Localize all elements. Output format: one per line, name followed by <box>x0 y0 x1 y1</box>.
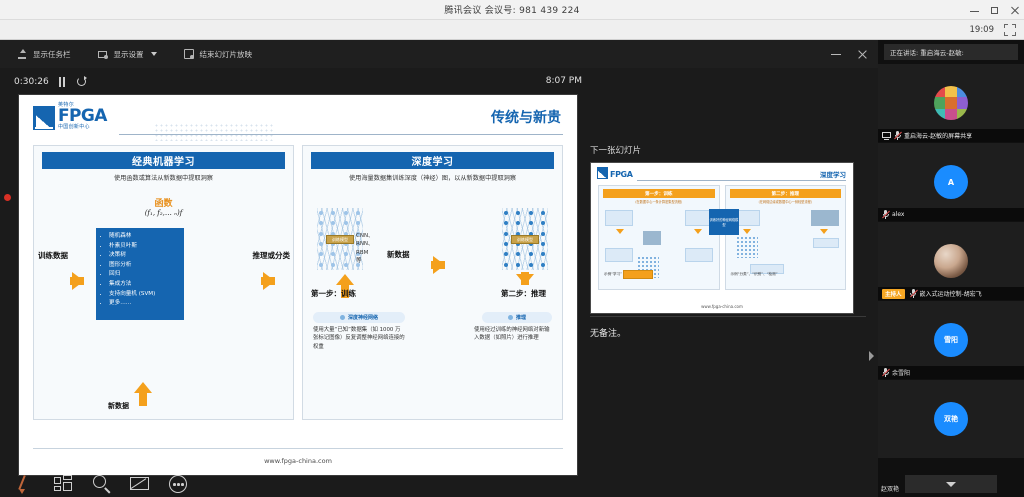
model-chip-label: 训练模型 <box>326 235 354 244</box>
next-slide-thumbnail[interactable]: FPGA 深度学习 第一步：训练 （在数据中心一条计算密集型流程） <box>590 162 854 314</box>
participant-name-bar: 余雪阳 <box>878 366 1024 379</box>
list-item: 支持向量机 (SVM) <box>109 290 182 300</box>
thumb-step2-heading: 第二步：推理 <box>730 189 842 198</box>
thumb-card <box>605 248 633 262</box>
participant-name: 重启海云-赵敏的屏幕共享 <box>904 131 972 140</box>
function-word: 函数 <box>34 196 293 209</box>
display-settings-icon <box>97 48 109 60</box>
list-item: 朴素贝叶斯 <box>109 242 182 252</box>
list-item: 决策树 <box>109 251 182 261</box>
neural-net-infer-graphic: 训练模型 <box>502 208 548 270</box>
more-options-icon[interactable] <box>166 472 190 496</box>
end-show-icon <box>183 48 195 60</box>
fpga-logo: 英特尔 FPGA 中国创新中心 <box>33 103 107 130</box>
all-slides-icon[interactable] <box>52 472 76 496</box>
arrow-down-icon <box>820 229 828 234</box>
thumb-panels: 第一步：训练 （在数据中心一条计算密集型流程） 示例“学习” <box>598 185 846 290</box>
zoom-icon[interactable] <box>90 472 114 496</box>
chevron-down-icon <box>151 52 157 56</box>
function-formula: (f₁, f₂,… ₙ)f <box>34 209 293 217</box>
arrow-down-icon <box>694 229 702 234</box>
thumb-image <box>643 231 661 245</box>
train-description: 使用大量“已知”数据集（如 1000 万张标记图像）反复调整神经网络连接的权重 <box>313 326 405 351</box>
slide-url: www.fpga-china.com <box>19 457 577 465</box>
pause-icon[interactable] <box>58 77 67 87</box>
step-one-label: 第一步：训练 <box>311 288 356 299</box>
recording-indicator <box>4 194 11 201</box>
tencent-meeting-window: 腾讯会议 会议号: 981 439 224 19:09 显示任务栏 显示设置 <box>0 0 1024 497</box>
classic-ml-subtitle: 使用函数或算法从新数据中提取洞察 <box>44 174 283 183</box>
thumb-image <box>811 210 839 226</box>
avatar: 双艳 <box>934 402 968 436</box>
inference-pill: 推理 <box>482 312 552 323</box>
footer-divider <box>33 448 563 449</box>
participant-tile[interactable]: 雪阳 余雪阳 <box>878 301 1024 379</box>
participant-tile[interactable]: 重启海云-赵敏的屏幕共享 <box>878 64 1024 142</box>
participant-name-bar: 主持人 嵌入式运动控制-胡宏飞 <box>878 287 1024 300</box>
avatar: 雪阳 <box>934 323 968 357</box>
slide-title: 传统与新贵 <box>491 107 561 127</box>
show-more-participants-icon[interactable] <box>905 475 997 493</box>
thumb-step1-sub: （在数据中心一条计算密集型流程） <box>602 199 716 204</box>
display-settings-label: 显示设置 <box>114 49 144 60</box>
inference-label: 推理或分类 <box>253 250 291 261</box>
maximize-button[interactable] <box>989 5 1000 16</box>
next-slide-panel: 下一张幻灯片 FPGA 深度学习 第一步：训练 （在数据中心一条计算密集型流程） <box>590 144 866 314</box>
decorative-dots <box>154 123 274 141</box>
collapse-panel-icon[interactable] <box>866 348 876 364</box>
arrow-up-icon <box>336 274 354 285</box>
elapsed-timer: 0:30:26 <box>14 77 49 87</box>
taskbar-clock: 19:09 <box>970 25 995 35</box>
logo-mark-icon <box>597 167 608 179</box>
participant-tile[interactable]: A alex <box>878 143 1024 221</box>
participant-tile[interactable]: 主持人 嵌入式运动控制-胡宏飞 <box>878 222 1024 300</box>
classic-ml-heading-text: 经典机器学习 <box>132 153 195 168</box>
thumb-step2-label: 第二步：推理 <box>771 191 799 197</box>
thumb-step1-heading: 第一步：训练 <box>603 189 715 198</box>
microphone-muted-icon <box>882 210 889 219</box>
participant-tile[interactable]: 双艳 <box>878 380 1024 458</box>
microphone-muted-icon <box>910 289 917 298</box>
avatar <box>934 86 968 120</box>
dnn-pill-label: 深度神经网络 <box>348 314 378 321</box>
arrow-right-icon <box>72 272 84 290</box>
avatar: A <box>934 165 968 199</box>
model-chip-label: 训练模型 <box>511 235 539 244</box>
algorithm-list: 随机森林 朴素贝叶斯 决策树 图形分析 回归 集成方法 支持向量机 (SVM) … <box>96 228 184 320</box>
thumb-logo: FPGA <box>597 167 633 179</box>
notes-divider <box>590 316 866 317</box>
fullscreen-icon[interactable] <box>1004 24 1016 36</box>
dnn-pill: 深度神经网络 <box>313 312 405 323</box>
list-item: 回归 <box>109 270 182 280</box>
header-divider <box>119 134 563 135</box>
participant-name-bar: 重启海云-赵敏的屏幕共享 <box>878 129 1024 142</box>
window-titlebar: 腾讯会议 会议号: 981 439 224 <box>0 0 1024 20</box>
slide-panels: 经典机器学习 使用函数或算法从新数据中提取洞察 函数 (f₁, f₂,… ₙ)f… <box>33 145 563 420</box>
participant-name-bar: alex <box>878 208 1024 221</box>
presenter-minimize-button[interactable] <box>830 48 842 60</box>
taskbar-icon <box>16 48 28 60</box>
deep-learning-subtitle: 使用海量数据集训练深度（神经）图，以从新数据中提取洞察 <box>313 174 552 183</box>
thumb-divider <box>637 180 846 181</box>
network-types-label: CNN、RNN、RBM等 <box>356 232 374 265</box>
taskbar-strip: 19:09 <box>0 20 1024 40</box>
thumb-right-foot: 示例“分类”、“识别”、“检测” <box>731 272 778 277</box>
slide-timer-controls: 0:30:26 <box>14 76 87 87</box>
deep-learning-heading: 深度学习 <box>311 152 554 169</box>
deep-learning-panel: 深度学习 使用海量数据集训练深度（神经）图，以从新数据中提取洞察 训练模型 CN… <box>302 145 563 420</box>
infer-description: 使用经过训练的神经网络对新输入数据（如照片）进行推理 <box>474 326 552 343</box>
thumb-center-band: 训练好的神经网络模型 <box>709 209 739 235</box>
step-two-label: 第二步：推理 <box>501 288 546 299</box>
window-controls <box>969 0 1020 20</box>
thumb-left-panel: 第一步：训练 （在数据中心一条计算密集型流程） 示例“学习” <box>598 185 720 290</box>
thumb-url: www.fpga-china.com <box>591 304 853 309</box>
list-item: 随机森林 <box>109 232 182 242</box>
deep-learning-heading-text: 深度学习 <box>412 153 454 168</box>
thumb-card <box>685 248 713 262</box>
participant-name: 余雪阳 <box>892 368 910 377</box>
thumb-accuracy-tag <box>813 238 839 248</box>
classic-ml-panel: 经典机器学习 使用函数或算法从新数据中提取洞察 函数 (f₁, f₂,… ₙ)f… <box>33 145 294 420</box>
inference-pill-label: 推理 <box>516 314 526 321</box>
microphone-muted-icon <box>882 368 889 377</box>
close-button[interactable] <box>1009 5 1020 16</box>
participant-name: 赵双艳 <box>881 484 899 493</box>
presenter-close-button[interactable] <box>856 48 868 60</box>
presenter-window-controls <box>830 40 878 68</box>
new-data-label: 新数据 <box>387 249 410 260</box>
show-taskbar-label: 显示任务栏 <box>33 49 71 60</box>
active-speaker-label: 正在讲话: 重启海云-赵敏: <box>890 47 964 57</box>
wall-clock: 8:07 PM <box>546 76 582 86</box>
classic-ml-heading: 经典机器学习 <box>42 152 285 169</box>
speaker-notes[interactable]: 无备注。 <box>590 326 626 339</box>
arrow-right-icon <box>433 256 445 274</box>
end-slideshow-button[interactable]: 结束幻灯片放映 <box>183 48 253 60</box>
thumb-left-foot: 示例“学习” <box>604 272 622 277</box>
list-item: 更多…… <box>109 299 182 309</box>
arrow-down-icon <box>743 229 751 234</box>
thumb-logo-text: FPGA <box>610 171 633 179</box>
arrow-up-icon <box>134 382 152 393</box>
presenter-toolbar: 显示任务栏 显示设置 结束幻灯片放映 <box>0 40 878 68</box>
end-slideshow-label: 结束幻灯片放映 <box>200 49 253 60</box>
next-slide-label: 下一张幻灯片 <box>590 144 866 156</box>
black-screen-icon[interactable] <box>128 472 152 496</box>
thumb-tag <box>623 270 653 279</box>
logo-bottom-text: 中国创新中心 <box>58 125 107 130</box>
slideshow-tools <box>14 472 190 496</box>
thumb-step1-label: 第一步：训练 <box>645 191 673 197</box>
current-slide[interactable]: 英特尔 FPGA 中国创新中心 传统与新贵 经典机器学习 使用函数或算法从新数据… <box>18 94 578 476</box>
minimize-button[interactable] <box>969 5 980 16</box>
new-data-label: 新数据 <box>108 401 129 411</box>
display-settings-button[interactable]: 显示设置 <box>97 48 157 60</box>
arrow-down-icon <box>516 274 534 285</box>
list-item: 集成方法 <box>109 280 182 290</box>
window-title: 腾讯会议 会议号: 981 439 224 <box>444 3 579 16</box>
thumb-neural-net <box>736 236 758 258</box>
participant-name: 嵌入式运动控制-胡宏飞 <box>920 289 982 298</box>
host-badge: 主持人 <box>882 289 905 299</box>
show-taskbar-button[interactable]: 显示任务栏 <box>16 48 71 60</box>
active-speaker-banner: 正在讲话: 重启海云-赵敏: <box>884 44 1018 60</box>
participant-rail: 正在讲话: 重启海云-赵敏: 重启海云-赵敏的屏幕共享 A <box>878 40 1024 497</box>
thumb-title: 深度学习 <box>820 169 846 179</box>
thumb-card <box>605 210 633 226</box>
training-data-label: 训练数据 <box>38 250 68 261</box>
thumb-step2-sub: （在网络边缘或数据中心一侧轻型流程） <box>729 199 843 204</box>
reset-icon[interactable] <box>76 76 87 87</box>
logo-mark-icon <box>33 106 55 130</box>
pen-icon[interactable] <box>14 472 38 496</box>
arrow-down-icon <box>616 229 624 234</box>
microphone-muted-icon <box>894 131 901 140</box>
slide-header: 英特尔 FPGA 中国创新中心 传统与新贵 <box>19 95 577 141</box>
screen-share-icon <box>882 132 891 140</box>
arrow-right-icon <box>263 272 275 290</box>
presenter-view: 0:30:26 8:07 PM 英特尔 FPGA 中国创新中心 传统与新贵 <box>0 68 878 497</box>
participant-name: alex <box>892 211 904 218</box>
avatar <box>934 244 968 278</box>
list-item: 图形分析 <box>109 261 182 271</box>
logo-main-text: FPGA <box>58 109 107 124</box>
thumb-right-panel: 第二步：推理 （在网络边缘或数据中心一侧轻型流程） 示例“分类”、“识别”、“检… <box>725 185 847 290</box>
